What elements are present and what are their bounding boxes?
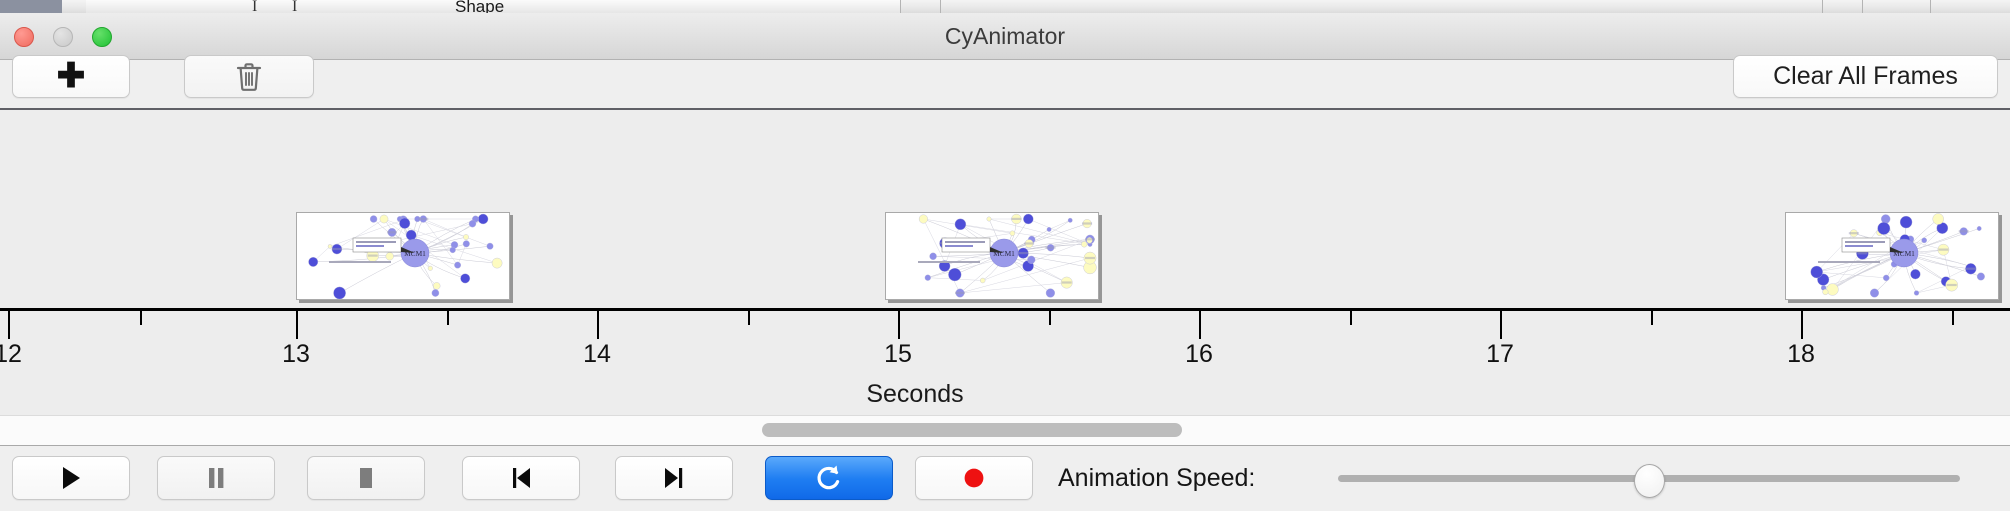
axis-tick-label: 12 bbox=[0, 340, 22, 369]
axis-tick-minor bbox=[447, 311, 449, 325]
axis-tick-minor bbox=[1350, 311, 1352, 325]
animation-speed-label: Animation Speed: bbox=[1058, 456, 1255, 500]
background-divider bbox=[1822, 0, 1823, 13]
skip-to-end-button[interactable] bbox=[615, 456, 733, 500]
add-frame-button[interactable]: ✚ bbox=[12, 55, 130, 98]
axis-tick-major bbox=[597, 311, 599, 339]
clear-all-frames-label: Clear All Frames bbox=[1773, 62, 1958, 91]
title-bar: CyAnimator bbox=[0, 13, 2010, 60]
background-glyph: I bbox=[292, 0, 297, 13]
play-icon bbox=[58, 464, 84, 492]
axis-tick-label: 17 bbox=[1486, 340, 1514, 369]
background-tab bbox=[308, 0, 391, 13]
axis-tick-label: 14 bbox=[583, 340, 611, 369]
background-divider bbox=[900, 0, 901, 13]
background-tab bbox=[190, 0, 251, 13]
background-shape-label: Shape bbox=[455, 0, 504, 13]
axis-tick-minor bbox=[748, 311, 750, 325]
cyanimator-window: I I Shape CyAnimator ✚ Clear All Frames bbox=[0, 0, 2010, 510]
axis-tick-major bbox=[898, 311, 900, 339]
axis-tick-minor bbox=[1651, 311, 1653, 325]
skip-back-icon bbox=[508, 464, 534, 492]
stop-button bbox=[307, 456, 425, 500]
background-tab bbox=[86, 0, 191, 13]
animation-speed-slider-thumb[interactable] bbox=[1634, 464, 1665, 498]
window-title: CyAnimator bbox=[0, 13, 2010, 60]
background-divider bbox=[1930, 0, 1931, 13]
skip-forward-icon bbox=[661, 464, 687, 492]
record-button[interactable] bbox=[915, 456, 1033, 500]
axis-title: Seconds bbox=[0, 380, 2010, 409]
background-tab bbox=[510, 0, 901, 13]
timeline-scrollbar[interactable] bbox=[0, 415, 2010, 446]
axis-tick-minor bbox=[1049, 311, 1051, 325]
axis-tick-major bbox=[8, 311, 10, 339]
loop-button[interactable] bbox=[765, 456, 893, 500]
axis-title-label: Seconds bbox=[866, 380, 963, 408]
play-button[interactable] bbox=[12, 456, 130, 500]
frame-thumbnail[interactable]: MCM1 bbox=[885, 212, 1099, 300]
frame-thumbnail[interactable]: MCM1 bbox=[296, 212, 510, 300]
axis-tick-minor bbox=[1952, 311, 1954, 325]
background-divider bbox=[940, 0, 941, 13]
playback-control-bar: Animation Speed: bbox=[0, 445, 2010, 511]
clear-all-frames-button[interactable]: Clear All Frames bbox=[1733, 55, 1998, 98]
timeline-axis bbox=[0, 308, 2010, 311]
background-sidebar-sliver bbox=[0, 0, 62, 13]
skip-to-start-button[interactable] bbox=[462, 456, 580, 500]
axis-tick-label: 15 bbox=[884, 340, 912, 369]
delete-frame-button[interactable] bbox=[184, 55, 314, 98]
frame-thumbnail[interactable]: MCM1 bbox=[1785, 212, 1999, 300]
pause-icon bbox=[204, 464, 228, 492]
axis-tick-major bbox=[1801, 311, 1803, 339]
trash-icon bbox=[236, 62, 262, 92]
stop-icon bbox=[354, 464, 378, 492]
background-divider bbox=[1862, 0, 1863, 13]
axis-tick-minor bbox=[140, 311, 142, 325]
axis-tick-label: 13 bbox=[282, 340, 310, 369]
timeline-panel[interactable]: MCM1MCM1MCM1 12131415161718 Seconds bbox=[0, 110, 2010, 415]
timeline-scrollbar-thumb[interactable] bbox=[762, 423, 1182, 437]
axis-tick-label: 18 bbox=[1787, 340, 1815, 369]
axis-tick-major bbox=[1199, 311, 1201, 339]
record-icon bbox=[961, 464, 987, 492]
axis-tick-label: 16 bbox=[1185, 340, 1213, 369]
loop-icon bbox=[815, 463, 843, 493]
plus-icon: ✚ bbox=[57, 59, 86, 93]
background-window-strip: I I Shape bbox=[0, 0, 2010, 13]
background-glyph: I bbox=[252, 0, 257, 13]
axis-tick-major bbox=[1500, 311, 1502, 339]
axis-tick-major bbox=[296, 311, 298, 339]
pause-button bbox=[157, 456, 275, 500]
background-tab bbox=[250, 0, 309, 13]
